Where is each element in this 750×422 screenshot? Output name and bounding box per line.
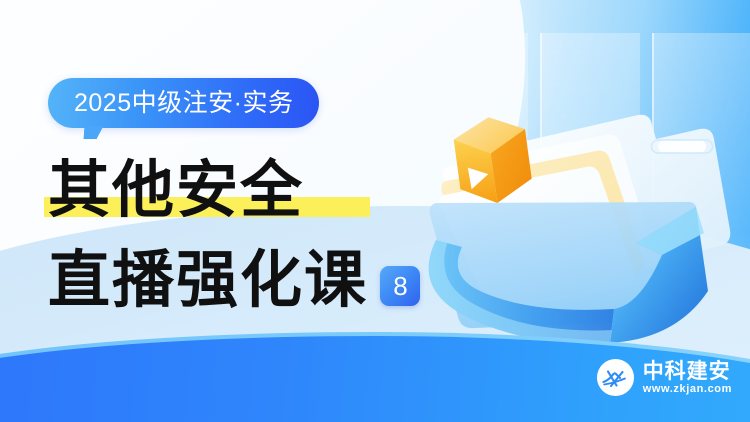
brand-name: 中科建安 [643,361,732,382]
badge-tail-icon [84,126,104,139]
zkjan-logo-icon [597,359,634,396]
course-badge-label: 2025中级注安·实务 [74,91,293,116]
brand-logo: 中科建安 www.zkjan.com [597,359,732,396]
page-title-line-2: 直播强化课 8 [48,248,420,311]
title-text-line-1: 其他安全 [48,153,304,226]
course-poster: 2025中级注安·实务 其他安全 直播强化课 8 [0,0,750,422]
course-badge: 2025中级注安·实务 [48,78,319,128]
episode-number-badge: 8 [380,266,420,306]
brand-url: www.zkjan.com [643,384,732,395]
title-text-line-2: 直播强化课 [48,243,368,316]
course-badge-pill: 2025中级注安·实务 [48,78,319,128]
episode-number-label: 8 [393,273,407,299]
page-title-line-1: 其他安全 [48,158,304,221]
poster-text-content: 2025中级注安·实务 其他安全 直播强化课 8 [0,0,470,422]
